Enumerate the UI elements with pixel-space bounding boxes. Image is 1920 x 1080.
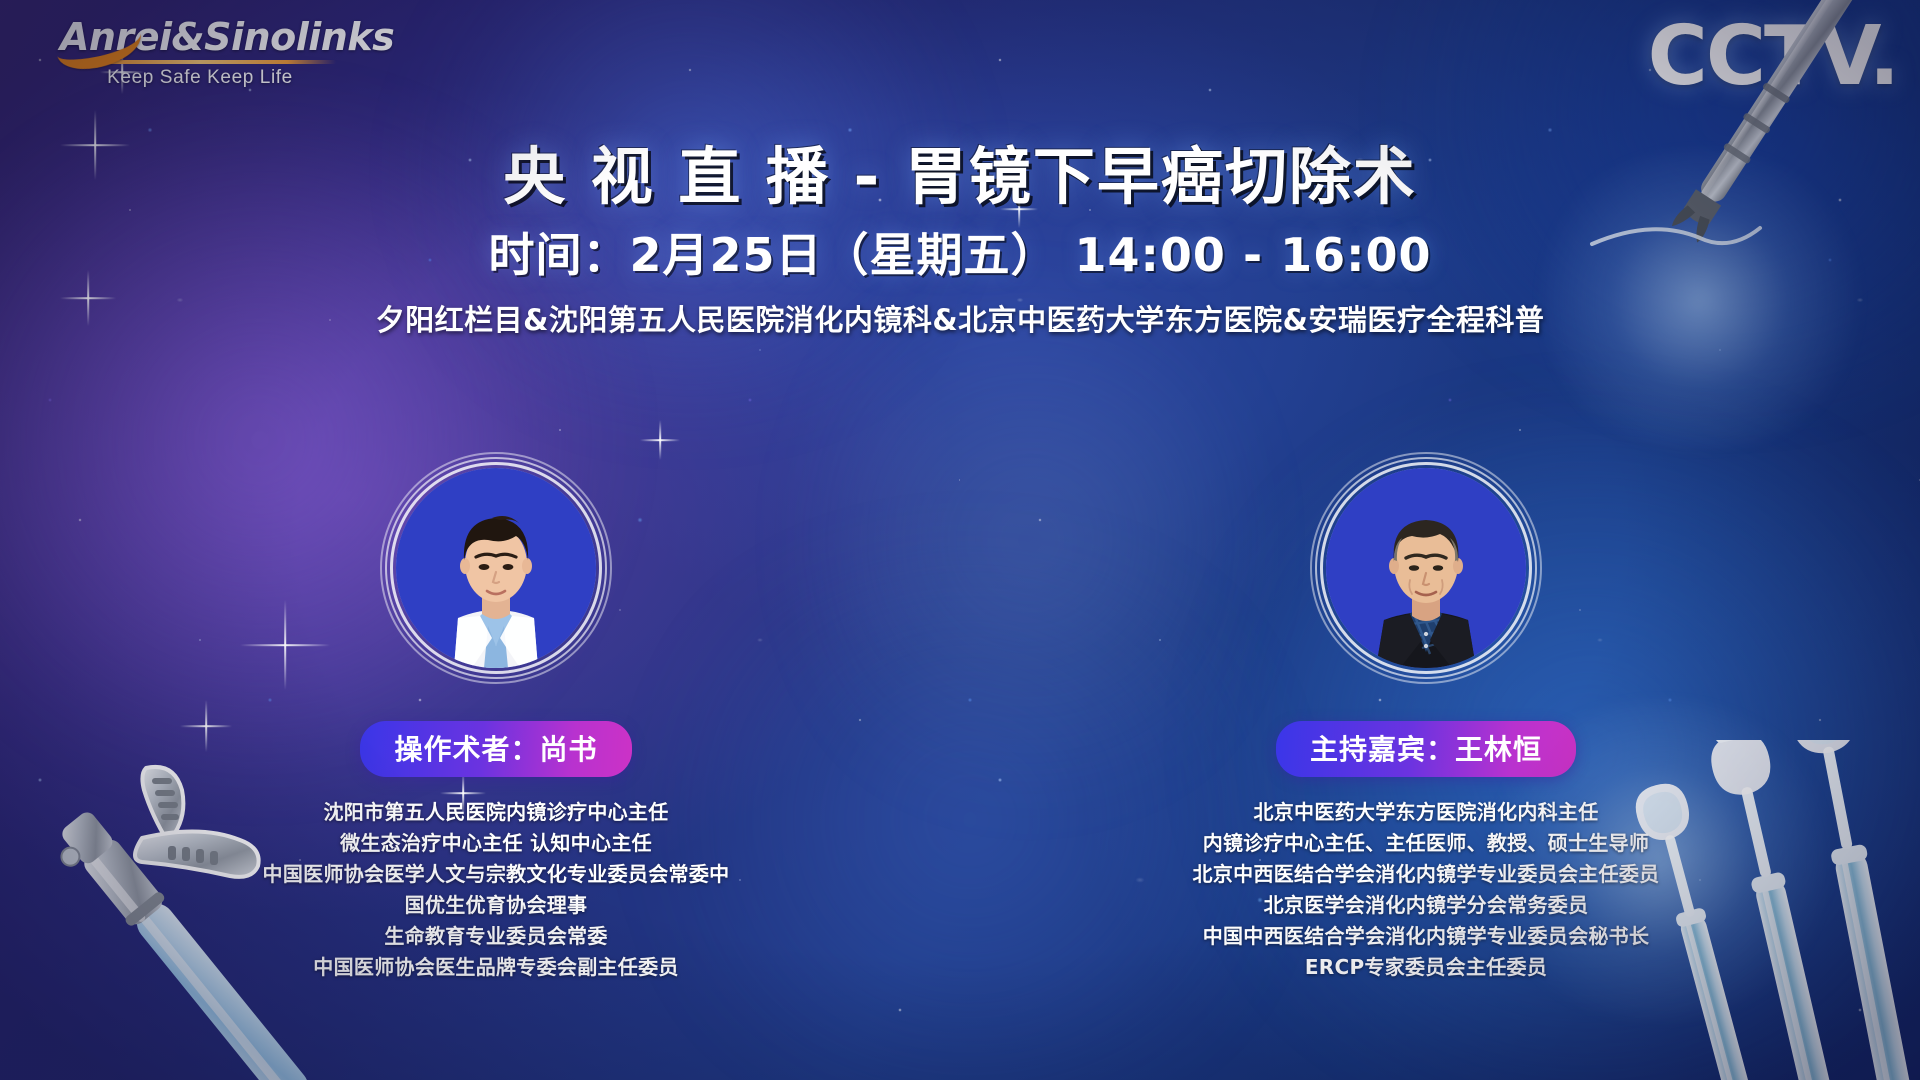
credential-line: 沈阳市第五人民医院内镜诊疗中心主任 bbox=[216, 797, 776, 828]
speaker-credentials: 北京中医药大学东方医院消化内科主任 内镜诊疗中心主任、主任医师、教授、硕士生导师… bbox=[1146, 797, 1706, 983]
anrei-tagline: Keep Safe Keep Life bbox=[60, 67, 340, 89]
anrei-logo: Anrei&Sinolinks Keep Safe Keep Life bbox=[60, 18, 340, 89]
poster-canvas: Anrei&Sinolinks Keep Safe Keep Life CCTV… bbox=[0, 0, 1920, 1080]
credential-line: 北京中西医结合学会消化内镜学专业委员会主任委员 bbox=[1146, 859, 1706, 890]
speaker-role-badge: 操作术者：尚书 bbox=[360, 721, 631, 777]
credential-line: ERCP专家委员会主任委员 bbox=[1146, 952, 1706, 983]
cctv-logo: CCTV. bbox=[1648, 16, 1898, 98]
event-subtitle: 夕阳红栏目&沈阳第五人民医院消化内镜科&北京中医药大学东方医院&安瑞医疗全程科普 bbox=[0, 297, 1920, 339]
credential-line: 北京中医药大学东方医院消化内科主任 bbox=[1146, 797, 1706, 828]
credential-line: 中国医师协会医生品牌专委会副主任委员 bbox=[216, 952, 776, 983]
credential-line: 内镜诊疗中心主任、主任医师、教授、硕士生导师 bbox=[1146, 828, 1706, 859]
speaker-role-badge: 主持嘉宾：王林恒 bbox=[1276, 721, 1576, 777]
credential-line: 中国中西医结合学会消化内镜学专业委员会秘书长 bbox=[1146, 921, 1706, 952]
credential-line: 国优生优育协会理事 bbox=[216, 890, 776, 921]
credential-line: 生命教育专业委员会常委 bbox=[216, 921, 776, 952]
event-time: 时间：2月25日（星期五） 14:00 - 16:00 bbox=[0, 219, 1920, 285]
credential-line: 中国医师协会医学人文与宗教文化专业委员会常委中 bbox=[216, 859, 776, 890]
avatar-halo bbox=[1326, 468, 1526, 668]
page-title: 央 视 直 播 - 胃镜下早癌切除术 bbox=[0, 126, 1920, 216]
speaker-credentials: 沈阳市第五人民医院内镜诊疗中心主任 微生态治疗中心主任 认知中心主任 中国医师协… bbox=[216, 797, 776, 983]
speaker-card-right: 主持嘉宾：王林恒 北京中医药大学东方医院消化内科主任 内镜诊疗中心主任、主任医师… bbox=[1146, 468, 1706, 983]
credential-line: 北京医学会消化内镜学分会常务委员 bbox=[1146, 890, 1706, 921]
sparkle-icon bbox=[640, 420, 680, 460]
speaker-card-left: 操作术者：尚书 沈阳市第五人民医院内镜诊疗中心主任 微生态治疗中心主任 认知中心… bbox=[216, 468, 776, 983]
avatar-halo bbox=[396, 468, 596, 668]
credential-line: 微生态治疗中心主任 认知中心主任 bbox=[216, 828, 776, 859]
avatar bbox=[396, 468, 596, 668]
avatar bbox=[1326, 468, 1526, 668]
